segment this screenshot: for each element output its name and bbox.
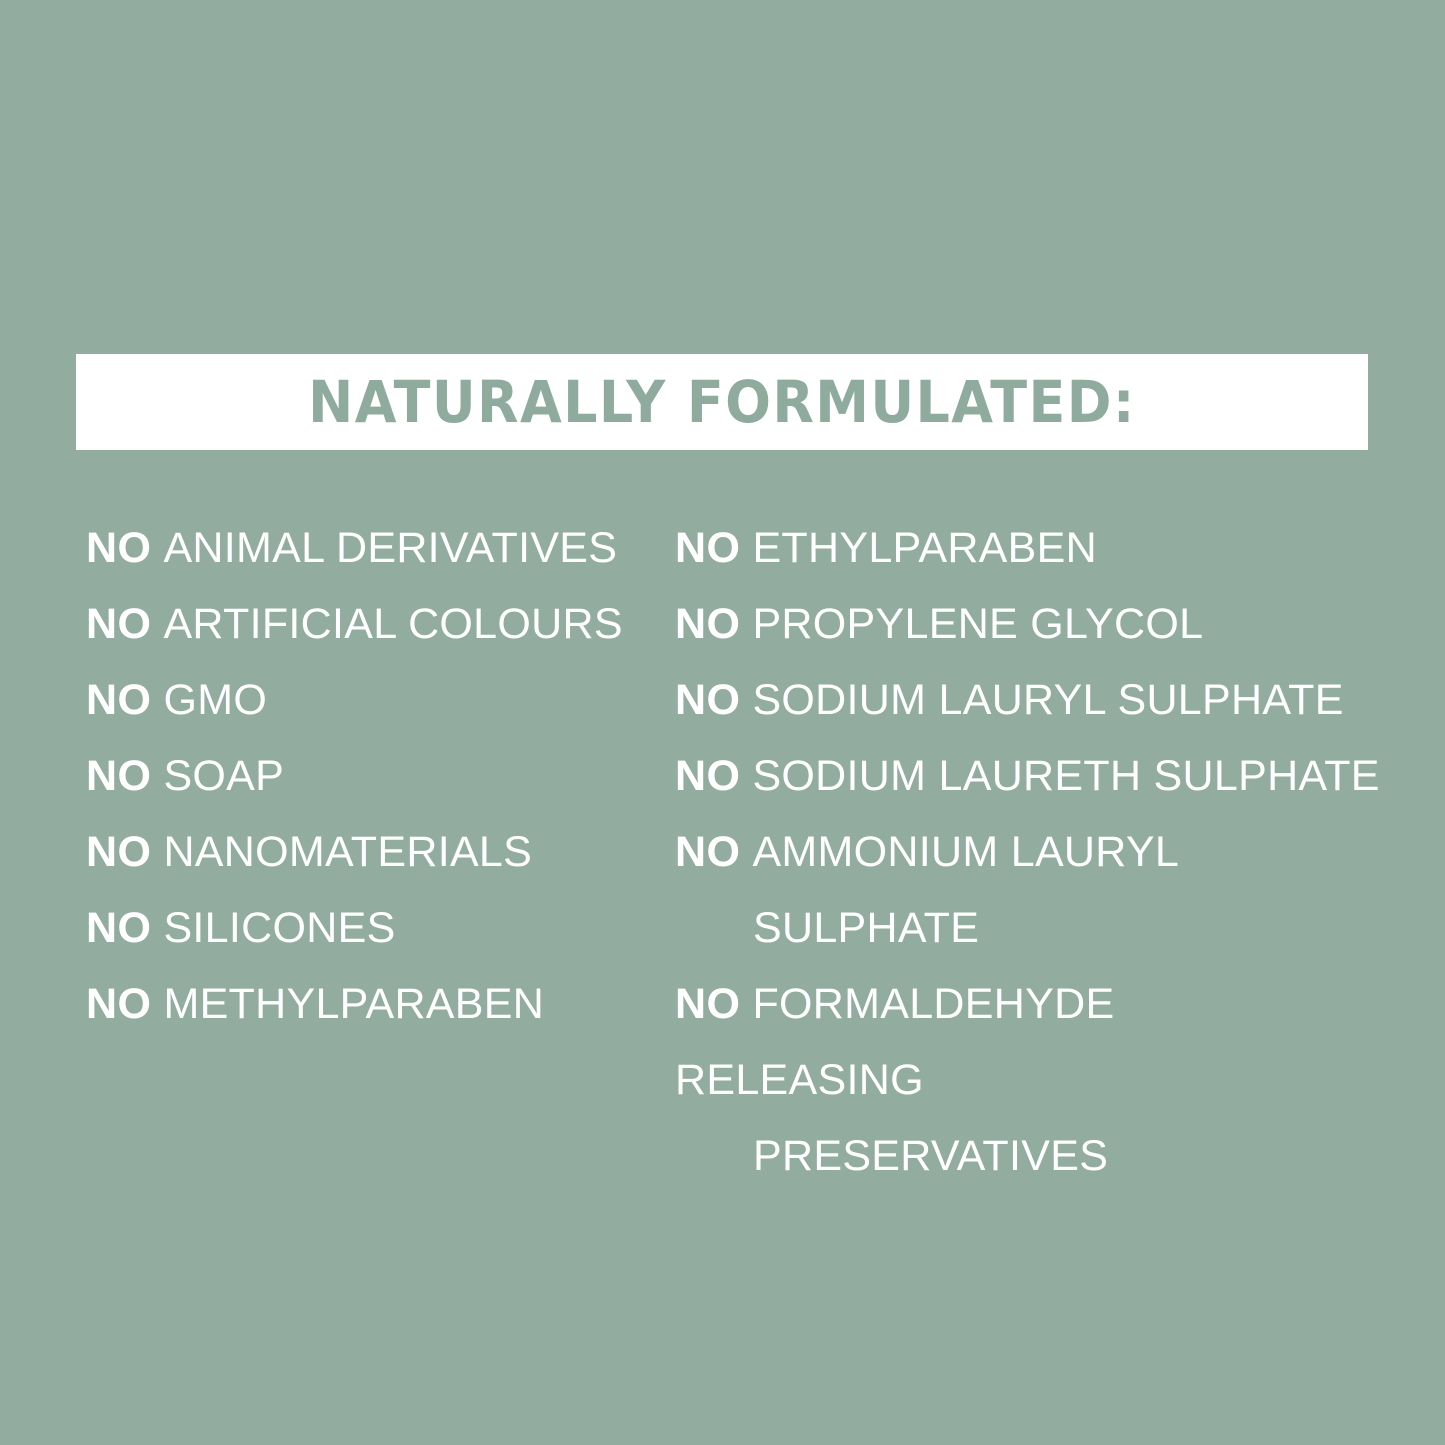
exclusion-prefix: NO	[675, 600, 741, 648]
exclusion-label: SODIUM LAURETH SULPHATE	[752, 752, 1379, 800]
exclusion-label-continuation: PRESERVATIVES	[675, 1118, 1375, 1194]
exclusion-label: AMMONIUM LAURYL	[752, 828, 1179, 876]
exclusion-prefix: NO	[86, 524, 152, 572]
exclusion-prefix: NO	[675, 828, 741, 876]
exclusion-label: ANIMAL DERIVATIVES	[163, 524, 617, 572]
naturally-formulated-graphic: { "theme": { "background_color": "#92ac9…	[0, 0, 1445, 1445]
exclusion-label: FORMALDEHYDE RELEASING	[675, 980, 1114, 1104]
exclusion-item: NO SODIUM LAURETH SULPHATE	[675, 738, 1375, 814]
exclusion-label-continuation: SULPHATE	[675, 890, 1375, 966]
exclusion-label: ETHYLPARABEN	[752, 524, 1097, 572]
exclusion-label: NANOMATERIALS	[163, 828, 532, 876]
exclusion-item: NO ANIMAL DERIVATIVES	[86, 510, 646, 586]
exclusion-label: METHYLPARABEN	[163, 980, 544, 1028]
exclusion-prefix: NO	[86, 752, 152, 800]
exclusion-prefix: NO	[86, 676, 152, 724]
exclusion-prefix: NO	[86, 600, 152, 648]
exclusion-prefix: NO	[86, 980, 152, 1028]
exclusion-item: NO FORMALDEHYDE RELEASINGPRESERVATIVES	[675, 966, 1375, 1118]
exclusion-item: NO GMO	[86, 662, 646, 738]
ingredient-exclusion-columns: NO ANIMAL DERIVATIVESNO ARTIFICIAL COLOU…	[0, 510, 1445, 1150]
exclusion-item: NO SOAP	[86, 738, 646, 814]
exclusion-item: NO METHYLPARABEN	[86, 966, 646, 1042]
exclusion-prefix: NO	[86, 828, 152, 876]
exclusion-label: GMO	[163, 676, 267, 724]
exclusion-label: ARTIFICIAL COLOURS	[163, 600, 622, 648]
page-title: NATURALLY FORMULATED:	[308, 373, 1136, 431]
naturally-formulated-banner: NATURALLY FORMULATED:	[76, 354, 1368, 450]
exclusion-item: NO SODIUM LAURYL SULPHATE	[675, 662, 1375, 738]
exclusion-item: NO SILICONES	[86, 890, 646, 966]
exclusion-prefix: NO	[675, 524, 741, 572]
exclusion-column-left: NO ANIMAL DERIVATIVESNO ARTIFICIAL COLOU…	[86, 510, 646, 1042]
exclusion-item: NO ETHYLPARABEN	[675, 510, 1375, 586]
exclusion-item: NO ARTIFICIAL COLOURS	[86, 586, 646, 662]
exclusion-label: SOAP	[163, 752, 284, 800]
exclusion-prefix: NO	[675, 752, 741, 800]
exclusion-item: NO NANOMATERIALS	[86, 814, 646, 890]
exclusion-prefix: NO	[675, 980, 741, 1028]
exclusion-label: SODIUM LAURYL SULPHATE	[752, 676, 1343, 724]
exclusion-column-right: NO ETHYLPARABENNO PROPYLENE GLYCOLNO SOD…	[675, 510, 1375, 1118]
exclusion-label: PROPYLENE GLYCOL	[752, 600, 1203, 648]
exclusion-item: NO AMMONIUM LAURYLSULPHATE	[675, 814, 1375, 966]
exclusion-item: NO PROPYLENE GLYCOL	[675, 586, 1375, 662]
exclusion-label: SILICONES	[163, 904, 395, 952]
exclusion-prefix: NO	[675, 676, 741, 724]
exclusion-prefix: NO	[86, 904, 152, 952]
